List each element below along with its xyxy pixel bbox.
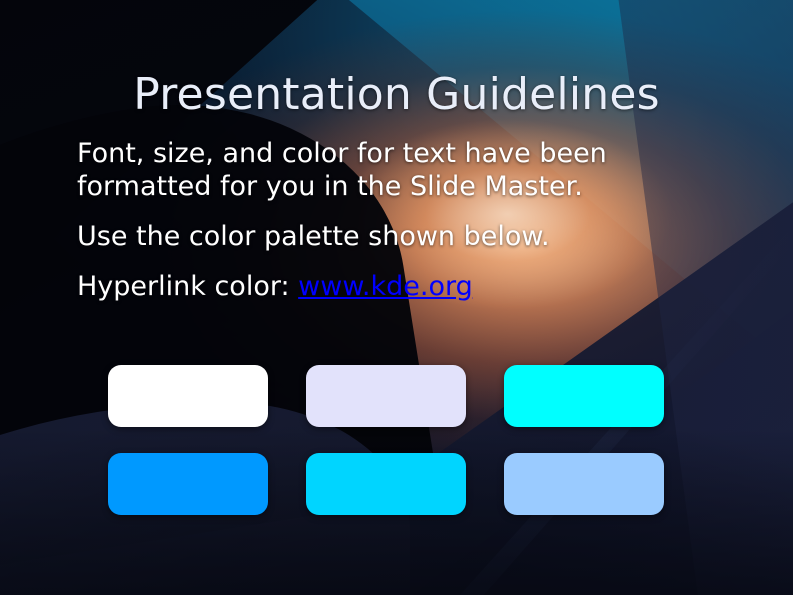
swatch-sky-cyan[interactable] bbox=[306, 453, 466, 515]
body-paragraph-2: Use the color palette shown below. bbox=[77, 221, 737, 254]
slide-content: Presentation Guidelines Font, size, and … bbox=[0, 0, 793, 595]
hyperlink-label: Hyperlink color: bbox=[77, 271, 298, 302]
swatch-light-blue[interactable] bbox=[504, 453, 664, 515]
hyperlink-paragraph: Hyperlink color: www.kde.org bbox=[77, 271, 737, 304]
swatch-cyan[interactable] bbox=[504, 365, 664, 427]
swatch-white[interactable] bbox=[108, 365, 268, 427]
presentation-slide: Presentation Guidelines Font, size, and … bbox=[0, 0, 793, 595]
slide-title: Presentation Guidelines bbox=[0, 71, 793, 119]
body-paragraph-1: Font, size, and color for text have been… bbox=[77, 138, 737, 204]
slide-body: Font, size, and color for text have been… bbox=[77, 138, 737, 304]
swatch-azure[interactable] bbox=[108, 453, 268, 515]
swatch-lavender[interactable] bbox=[306, 365, 466, 427]
kde-hyperlink[interactable]: www.kde.org bbox=[298, 271, 473, 302]
color-palette bbox=[108, 365, 664, 515]
